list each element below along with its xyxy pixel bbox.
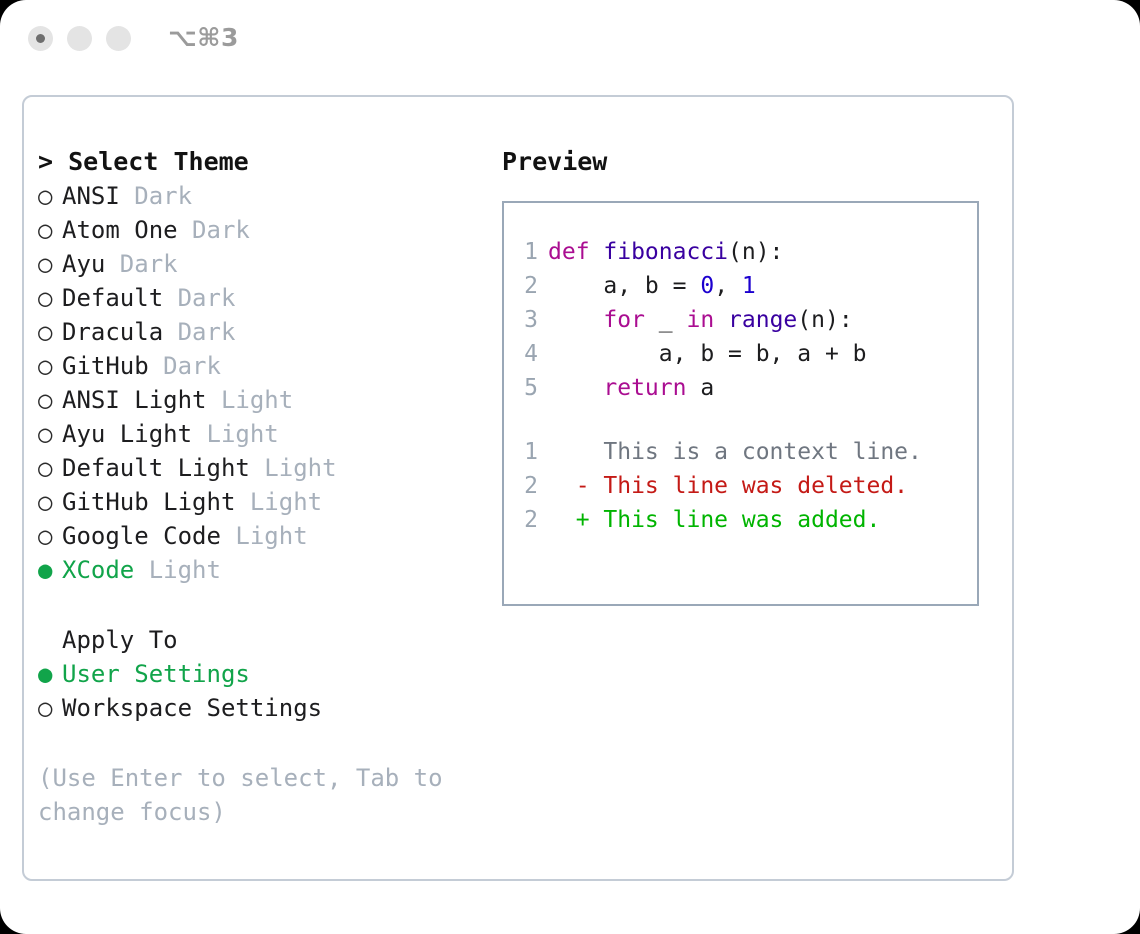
app-window: ⌥⌘3 > Select Theme ○ANSI Dark○Atom One D… [0, 0, 1140, 934]
radio-unselected-icon[interactable]: ○ [38, 383, 62, 417]
theme-option-row[interactable]: ○Ayu Light Light [38, 417, 488, 451]
diff-marker [548, 439, 590, 465]
theme-kind-label: Light [207, 383, 294, 417]
radio-unselected-icon[interactable]: ○ [38, 691, 62, 725]
theme-name-label: Default [62, 281, 163, 315]
theme-option-row[interactable]: ○GitHub Light Light [38, 485, 488, 519]
theme-option-row[interactable]: ●XCode Light [38, 553, 488, 587]
code-token-pln: (n): [797, 307, 852, 333]
preview-box: 1def fibonacci(n):2 a, b = 0, 13 for _ i… [502, 201, 979, 606]
line-number: 2 [514, 469, 548, 503]
theme-option-row[interactable]: ○Atom One Dark [38, 213, 488, 247]
theme-name-label: XCode [62, 553, 134, 587]
code-line: 2 a, b = 0, 1 [514, 269, 977, 303]
diff-marker: + [548, 507, 590, 533]
theme-name-label: Default Light [62, 451, 250, 485]
radio-selected-icon[interactable]: ● [38, 553, 62, 587]
theme-option-row[interactable]: ○Default Dark [38, 281, 488, 315]
theme-name-label: Atom One [62, 213, 178, 247]
code-token-kw: def [548, 239, 603, 265]
apply-to-option-row[interactable]: ●User Settings [38, 657, 488, 691]
line-number: 2 [514, 269, 548, 303]
diff-line-text: This line was added. [590, 507, 881, 533]
line-number: 1 [514, 235, 548, 269]
theme-kind-label: Light [250, 451, 337, 485]
keyboard-shortcut-label: ⌥⌘3 [168, 23, 239, 52]
code-token-pln: (n): [728, 239, 783, 265]
theme-name-label: GitHub Light [62, 485, 235, 519]
apply-to-heading: Apply To [38, 623, 488, 657]
code-token-kw: for [603, 307, 645, 333]
window-close-button[interactable] [28, 26, 53, 51]
code-token-pln: a, b = [548, 273, 700, 299]
diff-line-text: This line was deleted. [590, 473, 909, 499]
window-maximize-button[interactable] [106, 26, 131, 51]
diff-text-ctx: This is a context line. [548, 435, 922, 469]
code-line: 5 return a [514, 371, 977, 405]
window-controls [28, 26, 131, 51]
code-token-pln: , [714, 273, 742, 299]
theme-name-label: Google Code [62, 519, 221, 553]
line-number: 1 [514, 435, 548, 469]
theme-kind-label: Dark [178, 213, 250, 247]
theme-kind-label: Dark [163, 315, 235, 349]
radio-unselected-icon[interactable]: ○ [38, 485, 62, 519]
code-token-kw: in [686, 307, 714, 333]
theme-name-label: Ayu [62, 247, 105, 281]
main-panel: > Select Theme ○ANSI Dark○Atom One Dark○… [22, 95, 1014, 881]
code-text: def fibonacci(n): [548, 235, 783, 269]
select-theme-heading: > Select Theme [38, 145, 488, 179]
line-number: 2 [514, 503, 548, 537]
theme-option-row[interactable]: ○ANSI Light Light [38, 383, 488, 417]
theme-kind-label: Light [134, 553, 221, 587]
theme-kind-label: Light [235, 485, 322, 519]
code-text: return a [548, 371, 714, 405]
theme-option-row[interactable]: ○Dracula Dark [38, 315, 488, 349]
diff-line: 2 - This line was deleted. [514, 469, 977, 503]
theme-kind-label: Dark [105, 247, 177, 281]
theme-kind-label: Dark [149, 349, 221, 383]
apply-to-section: Apply To ●User Settings○Workspace Settin… [38, 623, 488, 725]
diff-text-del: - This line was deleted. [548, 469, 908, 503]
code-text: for _ in range(n): [548, 303, 853, 337]
window-minimize-button[interactable] [67, 26, 92, 51]
theme-option-row[interactable]: ○ANSI Dark [38, 179, 488, 213]
theme-kind-label: Dark [163, 281, 235, 315]
theme-option-row[interactable]: ○Default Light Light [38, 451, 488, 485]
theme-name-label: GitHub [62, 349, 149, 383]
radio-unselected-icon[interactable]: ○ [38, 349, 62, 383]
theme-name-label: ANSI Light [62, 383, 207, 417]
theme-selector-column: > Select Theme ○ANSI Dark○Atom One Dark○… [38, 145, 488, 829]
diff-line-text: This is a context line. [590, 439, 922, 465]
code-token-pln: _ [645, 307, 687, 333]
theme-kind-label: Dark [120, 179, 192, 213]
code-token-num: 0 [700, 273, 714, 299]
preview-column: Preview 1def fibonacci(n):2 a, b = 0, 13… [502, 145, 1002, 606]
theme-kind-label: Light [221, 519, 308, 553]
diff-text-add: + This line was added. [548, 503, 880, 537]
line-number: 4 [514, 337, 548, 371]
code-token-pln: a [686, 375, 714, 401]
code-token-fn: range [728, 307, 797, 333]
radio-unselected-icon[interactable]: ○ [38, 179, 62, 213]
theme-option-row[interactable]: ○Ayu Dark [38, 247, 488, 281]
line-number: 3 [514, 303, 548, 337]
radio-unselected-icon[interactable]: ○ [38, 315, 62, 349]
code-sample: 1def fibonacci(n):2 a, b = 0, 13 for _ i… [514, 235, 977, 405]
diff-line: 1 This is a context line. [514, 435, 977, 469]
radio-unselected-icon[interactable]: ○ [38, 281, 62, 315]
radio-selected-icon[interactable]: ● [38, 657, 62, 691]
code-token-num: 1 [742, 273, 756, 299]
apply-to-list: ●User Settings○Workspace Settings [38, 657, 488, 725]
code-token-pln [714, 307, 728, 333]
code-line: 4 a, b = b, a + b [514, 337, 977, 371]
apply-to-option-row[interactable]: ○Workspace Settings [38, 691, 488, 725]
code-token-fn: fibonacci [603, 239, 728, 265]
code-token-pln: a, b = b, a + b [548, 341, 867, 367]
code-line: 3 for _ in range(n): [514, 303, 977, 337]
theme-option-row[interactable]: ○Google Code Light [38, 519, 488, 553]
code-line: 1def fibonacci(n): [514, 235, 977, 269]
code-token-kw: return [603, 375, 686, 401]
theme-name-label: ANSI [62, 179, 120, 213]
keyboard-hint-text: (Use Enter to select, Tab to change focu… [38, 761, 458, 829]
radio-unselected-icon[interactable]: ○ [38, 247, 62, 281]
theme-kind-label: Light [192, 417, 279, 451]
radio-unselected-icon[interactable]: ○ [38, 451, 62, 485]
theme-name-label: Dracula [62, 315, 163, 349]
theme-name-label: Ayu Light [62, 417, 192, 451]
theme-list: ○ANSI Dark○Atom One Dark○Ayu Dark○Defaul… [38, 179, 488, 587]
radio-unselected-icon[interactable]: ○ [38, 519, 62, 553]
radio-unselected-icon[interactable]: ○ [38, 417, 62, 451]
diff-marker: - [548, 473, 590, 499]
preview-heading: Preview [502, 145, 1002, 179]
diff-line: 2 + This line was added. [514, 503, 977, 537]
title-bar: ⌥⌘3 [0, 0, 1140, 78]
radio-unselected-icon[interactable]: ○ [38, 213, 62, 247]
line-number: 5 [514, 371, 548, 405]
code-token-pln [548, 375, 603, 401]
apply-to-label: User Settings [62, 657, 250, 691]
code-token-pln [548, 307, 603, 333]
code-text: a, b = b, a + b [548, 337, 867, 371]
code-text: a, b = 0, 1 [548, 269, 756, 303]
diff-sample: 1 This is a context line.2 - This line w… [514, 435, 977, 537]
theme-option-row[interactable]: ○GitHub Dark [38, 349, 488, 383]
apply-to-label: Workspace Settings [62, 691, 322, 725]
